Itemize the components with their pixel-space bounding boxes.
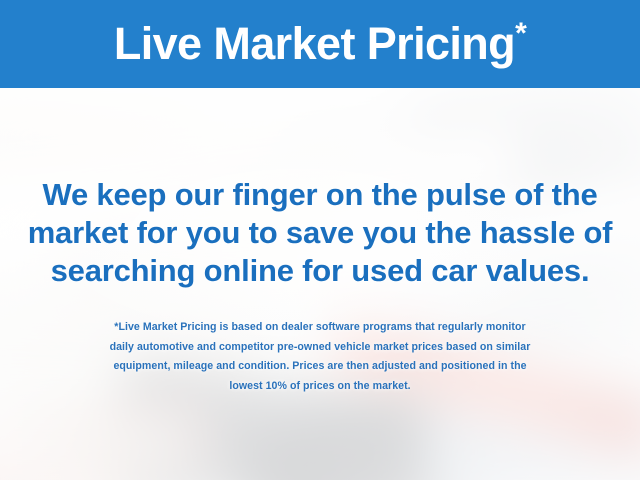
- page-title-asterisk: *: [515, 17, 526, 50]
- disclaimer-line-2: daily automotive and competitor pre-owne…: [0, 338, 640, 358]
- disclaimer-line-1: *Live Market Pricing is based on dealer …: [0, 318, 640, 338]
- headline-line-1: We keep our finger on the pulse of the: [0, 176, 640, 214]
- live-market-pricing-banner: Live Market Pricing* We keep our finger …: [0, 0, 640, 480]
- page-title-text: Live Market Pricing: [114, 18, 515, 69]
- header-band: Live Market Pricing*: [0, 0, 640, 88]
- headline-line-2: market for you to save you the hassle of: [0, 214, 640, 252]
- disclaimer-line-3: equipment, mileage and condition. Prices…: [0, 357, 640, 377]
- headline-line-3: searching online for used car values.: [0, 252, 640, 290]
- disclaimer-block: *Live Market Pricing is based on dealer …: [0, 318, 640, 396]
- page-title: Live Market Pricing*: [114, 21, 526, 68]
- headline-block: We keep our finger on the pulse of the m…: [0, 176, 640, 290]
- disclaimer-line-4: lowest 10% of prices on the market.: [0, 377, 640, 397]
